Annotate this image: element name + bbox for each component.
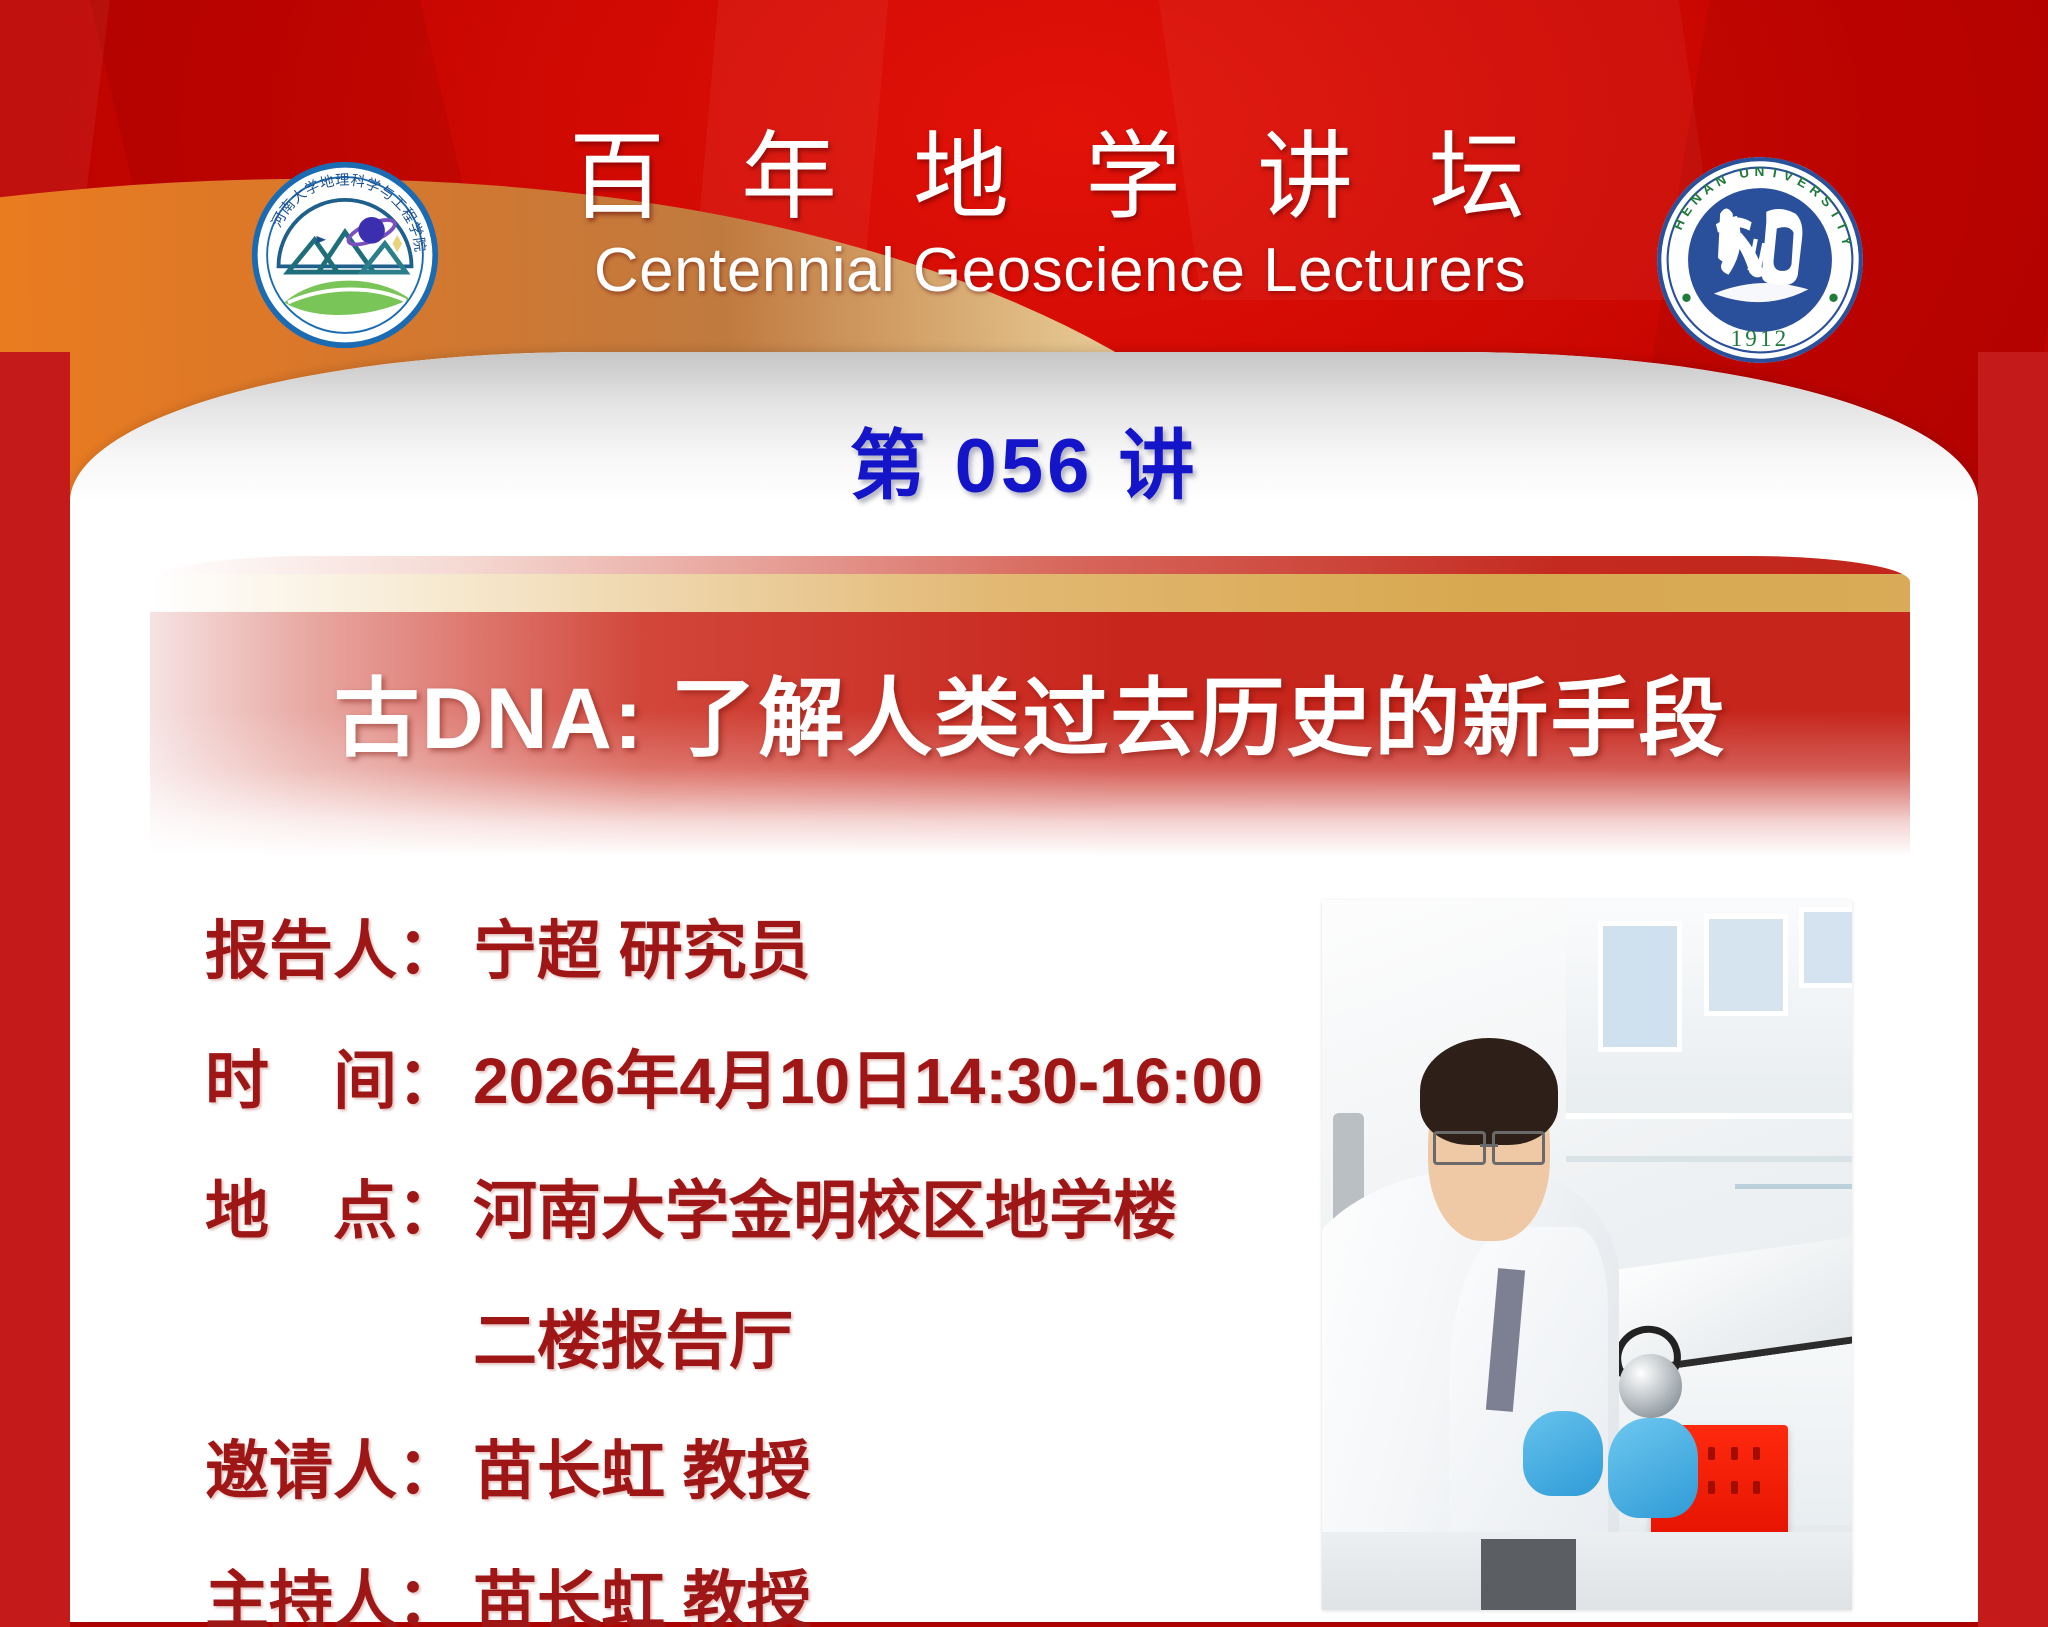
band-stripe-gold bbox=[150, 574, 1910, 612]
school-of-geographical-science-logo: 河 南 大 学 地 理 科 学 与 工 程 学 院 bbox=[250, 160, 440, 350]
detail-value-place-continued: 二楼报告厅 bbox=[473, 1290, 793, 1382]
lecture-details-list: 报告人： 宁超 研究员 时 间： 2026年4月10日14:30-16:00 地… bbox=[205, 900, 1285, 1627]
left-red-border bbox=[0, 352, 70, 1627]
series-title-en: Centennial Geoscience Lecturers bbox=[560, 235, 1560, 306]
photo-shelf bbox=[1566, 1156, 1852, 1162]
detail-row-place: 地 点： 河南大学金明校区地学楼 bbox=[205, 1160, 1285, 1252]
photo-blue-glove bbox=[1523, 1411, 1603, 1496]
detail-row-place-continued: 二楼报告厅 bbox=[205, 1290, 1285, 1382]
photo-cabinet-glass bbox=[1704, 914, 1788, 1016]
series-title-cn: 百 年 地 学 讲 坛 bbox=[560, 128, 1560, 229]
right-red-border bbox=[1978, 352, 2048, 1627]
lecture-poster: 河 南 大 学 地 理 科 学 与 工 程 学 院 百 年 地 学 讲 坛 bbox=[0, 0, 2048, 1627]
detail-row-time: 时 间： 2026年4月10日14:30-16:00 bbox=[205, 1030, 1285, 1122]
detail-label-place: 地 点： bbox=[205, 1160, 473, 1252]
detail-row-inviter: 邀请人： 苗长虹 教授 bbox=[205, 1420, 1285, 1512]
svg-text:院: 院 bbox=[410, 236, 429, 252]
detail-label-host: 主持人： bbox=[205, 1550, 473, 1627]
photo-bench bbox=[1322, 1532, 1852, 1610]
detail-value-place: 河南大学金明校区地学楼 bbox=[473, 1160, 1177, 1252]
detail-label-speaker: 报告人： bbox=[205, 900, 473, 992]
photo-cabinet-glass bbox=[1598, 921, 1682, 1052]
henan-logo-year: 1912 bbox=[1731, 325, 1790, 351]
svg-text:N: N bbox=[1755, 164, 1766, 179]
photo-cabinet-glass bbox=[1799, 907, 1852, 988]
poster-header: 河 南 大 学 地 理 科 学 与 工 程 学 院 百 年 地 学 讲 坛 bbox=[0, 0, 2048, 360]
photo-speaker-hair bbox=[1420, 1038, 1558, 1145]
speaker-photo bbox=[1322, 900, 1852, 1610]
photo-blue-glove bbox=[1608, 1418, 1698, 1517]
lecture-title: 古DNA: 了解人类过去历史的新手段 bbox=[150, 648, 1910, 773]
detail-value-time: 2026年4月10日14:30-16:00 bbox=[473, 1030, 1263, 1122]
detail-row-speaker: 报告人： 宁超 研究员 bbox=[205, 900, 1285, 992]
band-stripe-red-thin bbox=[150, 556, 1910, 574]
detail-value-inviter: 苗长虹 教授 bbox=[473, 1420, 811, 1512]
henan-university-logo: H E N A N U N I V E R S I T Y bbox=[1655, 155, 1865, 365]
detail-row-host: 主持人： 苗长虹 教授 bbox=[205, 1550, 1285, 1627]
photo-shelf bbox=[1735, 1184, 1852, 1189]
lecture-title-band: 古DNA: 了解人类过去历史的新手段 bbox=[150, 556, 1910, 856]
detail-label-inviter: 邀请人： bbox=[205, 1420, 473, 1512]
photo-speaker-glasses bbox=[1433, 1131, 1544, 1159]
detail-label-time: 时 间： bbox=[205, 1030, 473, 1122]
detail-value-host: 苗长虹 教授 bbox=[473, 1550, 811, 1627]
photo-stool bbox=[1481, 1539, 1576, 1610]
svg-text:理: 理 bbox=[335, 173, 350, 189]
lecture-number: 第 056 讲 bbox=[0, 404, 2048, 514]
detail-value-speaker: 宁超 研究员 bbox=[473, 900, 811, 992]
series-title-block: 百 年 地 学 讲 坛 Centennial Geoscience Lectur… bbox=[560, 128, 1560, 306]
